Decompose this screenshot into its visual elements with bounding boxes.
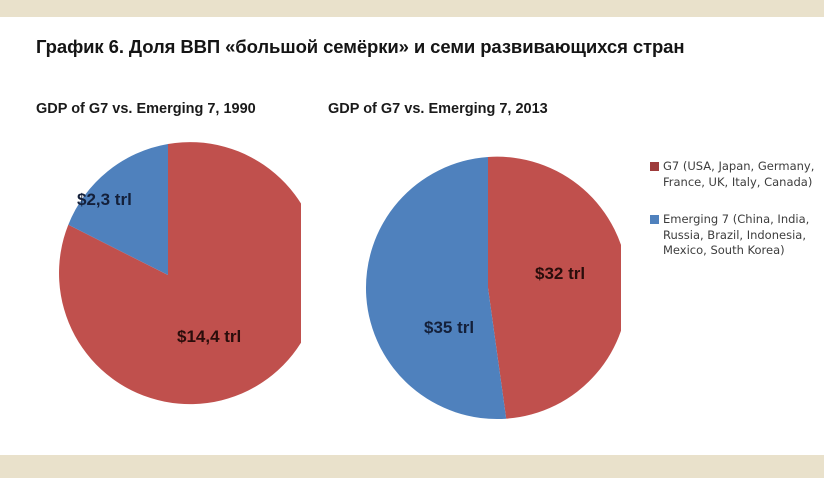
legend-item-g7: G7 (USA, Japan, Germany, France, UK, Ita… [650, 159, 820, 190]
pie-chart-2013 [355, 155, 621, 421]
pie-slice-g7-1990 [59, 142, 301, 404]
data-label-emerging-2013: $35 trl [424, 318, 474, 338]
pie-slice-g7-2013 [488, 157, 621, 419]
decorative-band-top [0, 0, 824, 17]
legend-item-emerging-7: Emerging 7 (China, India, Russia, Brazil… [650, 212, 820, 259]
pie-slice-emerging-2013 [366, 157, 506, 419]
legend-swatch-emerging-7-icon [650, 215, 659, 224]
data-label-g7-2013: $32 trl [535, 264, 585, 284]
chart-page: График 6. Доля ВВП «большой семёрки» и с… [0, 0, 824, 478]
chart-title-1990: GDP of G7 vs. Emerging 7, 1990 [36, 101, 256, 117]
pie-chart-1990 [35, 142, 301, 408]
legend-label-emerging-7: Emerging 7 (China, India, Russia, Brazil… [663, 212, 820, 259]
legend-label-g7: G7 (USA, Japan, Germany, France, UK, Ita… [663, 159, 820, 190]
chart-legend: G7 (USA, Japan, Germany, France, UK, Ita… [650, 159, 820, 281]
legend-swatch-g7-icon [650, 162, 659, 171]
decorative-band-bottom [0, 455, 824, 478]
page-title: График 6. Доля ВВП «большой семёрки» и с… [36, 36, 796, 58]
pie-chart-2013-svg [355, 155, 621, 421]
pie-chart-1990-svg [35, 142, 301, 408]
chart-title-2013: GDP of G7 vs. Emerging 7, 2013 [328, 101, 548, 117]
data-label-emerging-1990: $2,3 trl [77, 190, 132, 210]
data-label-g7-1990: $14,4 trl [177, 327, 241, 347]
